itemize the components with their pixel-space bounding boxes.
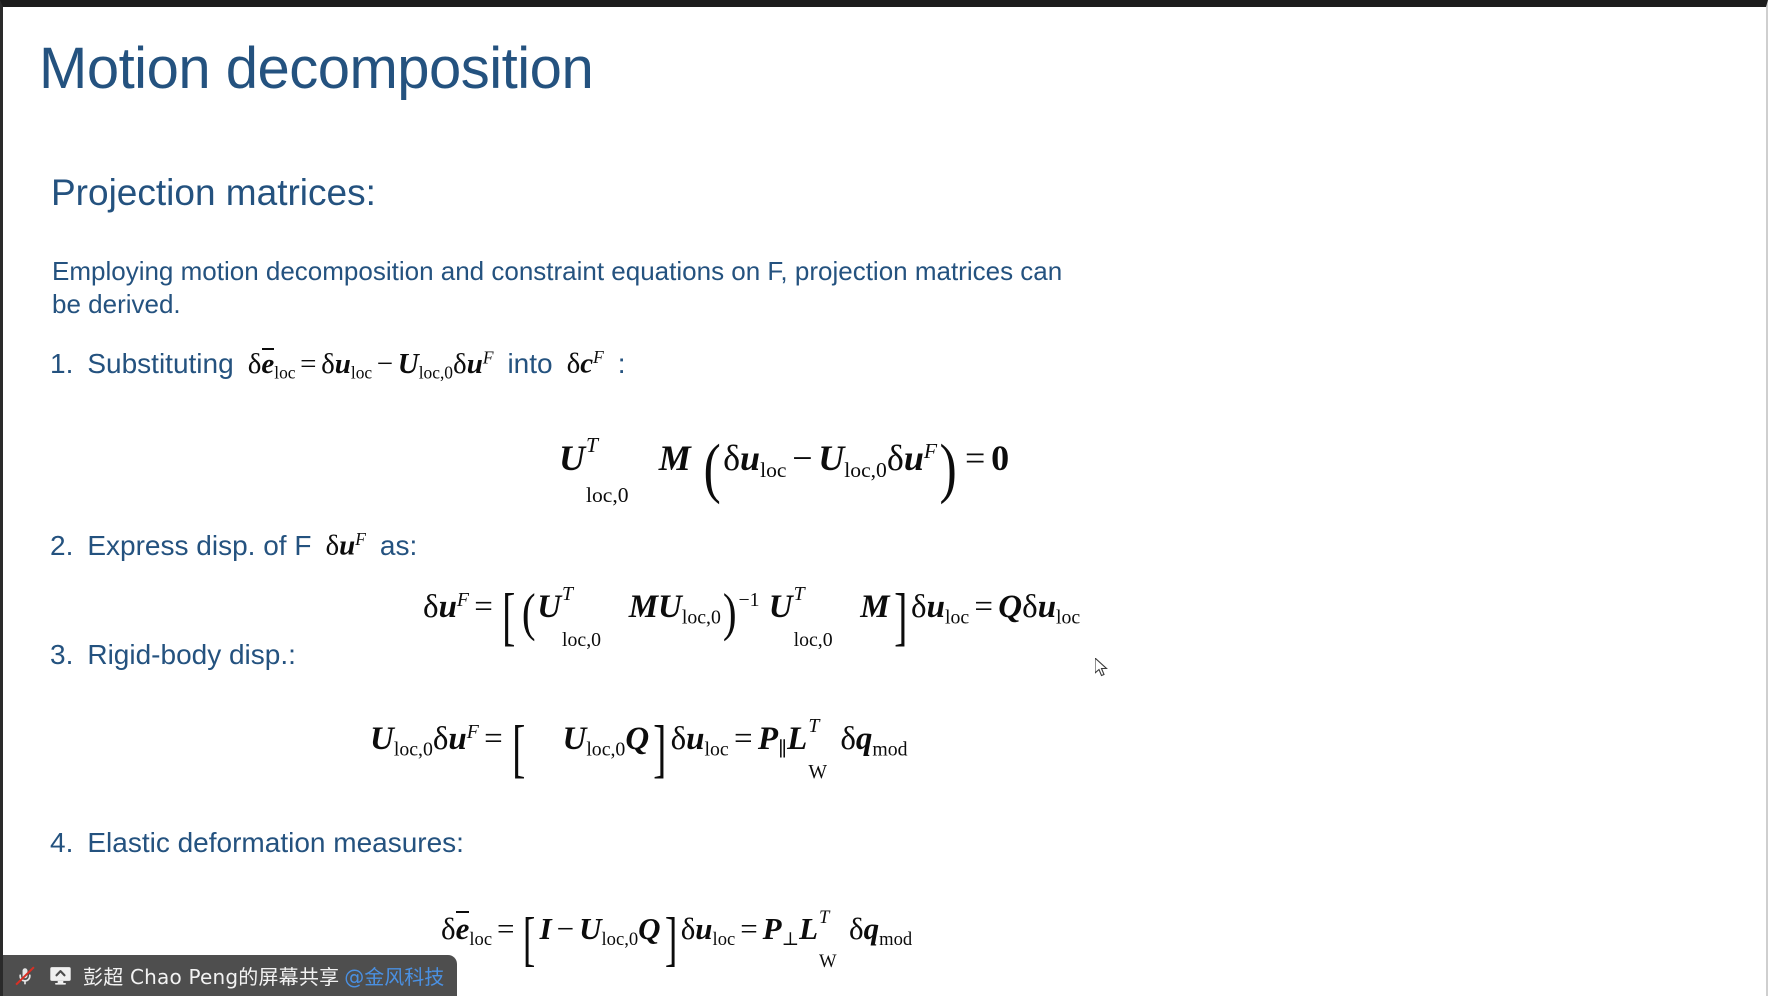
screen-share-icon[interactable] [47,962,74,989]
step-3-number: 3. [50,639,73,671]
step-2-line: 2. Express disp. of F δuF as: [50,529,417,563]
step-1-text-before: Substituting [87,348,233,380]
equation-3: Uloc,0δuF=[Uloc,0Q]δuloc=P∥LTWδqmod [370,721,908,775]
screen-shared-window: Motion decomposition Projection matrices… [0,0,1768,996]
step-4-text-before: Elastic deformation measures: [87,827,464,859]
step-2-text-before: Express disp. of F [87,530,311,562]
step-4-line: 4. Elastic deformation measures: [50,827,464,859]
step-1-inline-equation-tail: δcF [567,347,604,381]
step-1-text-middle: into [507,348,552,380]
equation-4: δeloc=[I−Uloc,0Q]δuloc=P⊥LTWδqmod [441,910,912,964]
mouse-cursor [1095,658,1109,678]
microphone-muted-icon[interactable] [11,962,38,989]
intro-paragraph: Employing motion decomposition and const… [52,255,1072,321]
page-title: Motion decomposition [39,39,593,100]
step-1-inline-equation: δeloc=δuloc−Uloc,0δuF [248,347,494,384]
step-1-number: 1. [50,348,73,380]
step-1-line: 1. Substituting δeloc=δuloc−Uloc,0δuF in… [50,347,626,384]
equation-2: δuF=[(UTloc,0MUloc,0)−1UTloc,0M]δuloc=Qδ… [423,589,1080,643]
presentation-slide: Motion decomposition Projection matrices… [3,7,1766,996]
section-heading: Projection matrices: [51,172,376,214]
equation-1: UTloc,0M(δuloc−Uloc,0δuF)=0 [559,437,1009,495]
step-2-number: 2. [50,530,73,562]
step-3-line: 3. Rigid-body disp.: [50,639,296,671]
share-status-label: 彭超 Chao Peng的屏幕共享 [83,961,339,990]
step-4-number: 4. [50,827,73,859]
share-company-label: @金风科技 [344,961,444,990]
screen-share-status-bar: 彭超 Chao Peng的屏幕共享 @金风科技 [3,955,457,996]
step-1-colon: : [618,348,626,380]
step-3-text-before: Rigid-body disp.: [87,639,296,671]
step-2-inline-equation: δuF [325,529,365,563]
step-2-text-after: as: [380,530,417,562]
